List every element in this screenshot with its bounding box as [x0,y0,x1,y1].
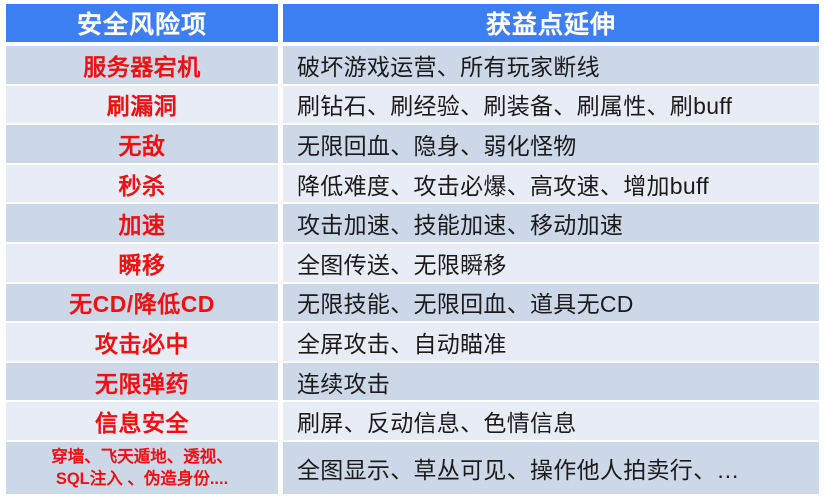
table-row: 无CD/降低CD 无限技能、无限回血、道具无CD [6,284,819,322]
table-row: 无限弹药 连续攻击 [6,363,819,401]
benefit-cell: 全图传送、无限瞬移 [283,244,819,282]
column-header-risk: 安全风险项 [6,4,278,42]
risk-cell-line-1: 穿墙、飞天遁地、透视、 [51,446,233,468]
benefit-cell: 攻击加速、技能加速、移动加速 [283,204,819,242]
table-row: 加速 攻击加速、技能加速、移动加速 [6,204,819,242]
benefit-cell: 无限技能、无限回血、道具无CD [283,284,819,322]
risk-cell: 瞬移 [6,244,278,282]
risk-benefit-table: 安全风险项 获益点延伸 服务器宕机 破坏游戏运营、所有玩家断线 刷漏洞 刷钻石、… [0,0,825,500]
risk-cell: 秒杀 [6,165,278,203]
risk-cell-line-2: SQL注入 、伪造身份.... [56,468,228,490]
table-row: 信息安全 刷屏、反动信息、色情信息 [6,402,819,440]
benefit-cell: 连续攻击 [283,363,819,401]
benefit-cell: 全图显示、草丛可见、操作他人拍卖行、… [283,442,819,494]
table-row: 穿墙、飞天遁地、透视、 SQL注入 、伪造身份.... 全图显示、草丛可见、操作… [6,442,819,494]
risk-cell: 服务器宕机 [6,46,278,84]
benefit-cell: 降低难度、攻击必爆、高攻速、增加buff [283,165,819,203]
table-body: 服务器宕机 破坏游戏运营、所有玩家断线 刷漏洞 刷钻石、刷经验、刷装备、刷属性、… [6,42,819,494]
table-header-row: 安全风险项 获益点延伸 [6,4,819,42]
risk-cell: 无CD/降低CD [6,284,278,322]
benefit-cell: 刷屏、反动信息、色情信息 [283,402,819,440]
table-row: 刷漏洞 刷钻石、刷经验、刷装备、刷属性、刷buff [6,86,819,124]
table-row: 无敌 无限回血、隐身、弱化怪物 [6,125,819,163]
benefit-cell: 无限回血、隐身、弱化怪物 [283,125,819,163]
risk-cell: 信息安全 [6,402,278,440]
table-row: 攻击必中 全屏攻击、自动瞄准 [6,323,819,361]
risk-cell: 加速 [6,204,278,242]
risk-cell: 穿墙、飞天遁地、透视、 SQL注入 、伪造身份.... [6,442,278,494]
risk-cell: 无敌 [6,125,278,163]
benefit-cell: 刷钻石、刷经验、刷装备、刷属性、刷buff [283,86,819,124]
risk-cell: 无限弹药 [6,363,278,401]
table-row: 瞬移 全图传送、无限瞬移 [6,244,819,282]
risk-cell: 攻击必中 [6,323,278,361]
benefit-cell: 全屏攻击、自动瞄准 [283,323,819,361]
table-row: 秒杀 降低难度、攻击必爆、高攻速、增加buff [6,165,819,203]
column-header-benefit: 获益点延伸 [283,4,819,42]
risk-cell: 刷漏洞 [6,86,278,124]
table-row: 服务器宕机 破坏游戏运营、所有玩家断线 [6,46,819,84]
benefit-cell: 破坏游戏运营、所有玩家断线 [283,46,819,84]
